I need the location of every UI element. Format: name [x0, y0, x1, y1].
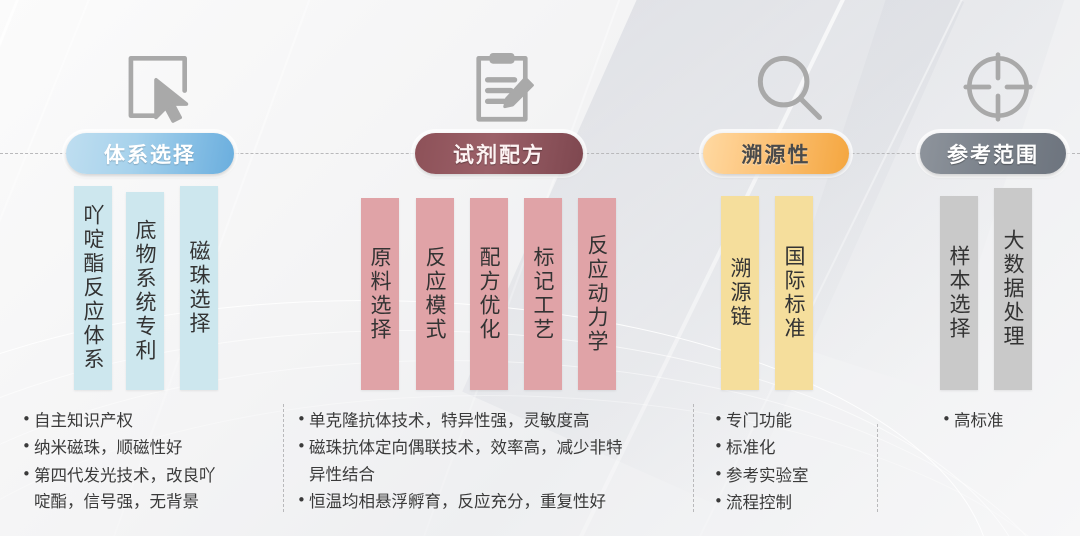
factor-bar-label: 吖啶酯反应体系: [78, 204, 108, 372]
factor-bar-label: 原料选择: [365, 246, 395, 342]
bullet-list-reference-range: 高标准: [942, 408, 1072, 435]
slide-canvas: 体系选择 试剂配方 溯源性 参考范围 吖啶酯反应体系 底物系统专利 磁珠选择 原…: [0, 0, 1080, 536]
pill-label: 试剂配方: [453, 139, 545, 169]
factor-bar[interactable]: 样本选择: [940, 196, 978, 390]
group-pill-system-selection[interactable]: 体系选择: [66, 133, 234, 174]
factor-bar[interactable]: 溯源链: [721, 196, 759, 390]
magnifier-icon: [746, 44, 832, 130]
factor-bar[interactable]: 底物系统专利: [126, 192, 164, 390]
factor-bar-label: 标记工艺: [528, 246, 558, 342]
factor-bar[interactable]: 磁珠选择: [180, 186, 218, 390]
factor-bar-label: 反应动力学: [582, 234, 612, 354]
factor-bar[interactable]: 标记工艺: [524, 198, 562, 390]
list-item: 标准化: [714, 435, 874, 461]
list-item: 单克隆抗体技术，特异性强，灵敏度高: [297, 408, 687, 434]
icon-row: [0, 0, 1080, 132]
bullet-list-reagent-formula: 单克隆抗体技术，特异性强，灵敏度高 磁珠抗体定向偶联技术，效率高，减少非特 异性…: [297, 408, 687, 517]
clipboard-pencil-icon: [459, 44, 545, 130]
factor-bar-label: 底物系统专利: [130, 219, 160, 363]
list-item: 磁珠抗体定向偶联技术，效率高，减少非特 异性结合: [297, 435, 687, 488]
factor-bar[interactable]: 反应动力学: [578, 198, 616, 390]
bullet-list-traceability: 专门功能 标准化 参考实验室 流程控制: [714, 408, 874, 518]
factor-bar-label: 样本选择: [944, 245, 974, 341]
group-pill-traceability[interactable]: 溯源性: [703, 133, 849, 174]
crosshair-target-icon: [955, 44, 1041, 130]
list-item: 流程控制: [714, 490, 874, 516]
column-divider: [693, 404, 694, 512]
column-divider: [283, 404, 284, 512]
pill-label: 溯源性: [742, 139, 811, 169]
factor-bar-label: 配方优化: [474, 246, 504, 342]
list-item: 恒温均相悬浮孵育，反应充分，重复性好: [297, 489, 687, 515]
column-divider: [877, 424, 878, 512]
group-pill-reagent-formula[interactable]: 试剂配方: [415, 133, 583, 174]
list-item: 专门功能: [714, 408, 874, 434]
factor-bar[interactable]: 吖啶酯反应体系: [74, 186, 112, 390]
factor-bar[interactable]: 配方优化: [470, 198, 508, 390]
pill-label: 参考范围: [947, 139, 1039, 169]
factor-bar-label: 大数据处理: [998, 229, 1028, 349]
list-item: 自主知识产权: [22, 408, 270, 434]
factor-bar-label: 国际标准: [779, 245, 809, 341]
factor-bar[interactable]: 大数据处理: [994, 188, 1032, 390]
bullet-list-system-selection: 自主知识产权 纳米磁珠，顺磁性好 第四代发光技术，改良吖 啶酯，信号强，无背景: [22, 408, 270, 517]
factor-bar[interactable]: 反应模式: [416, 198, 454, 390]
cursor-select-icon: [113, 44, 199, 130]
factor-bar-label: 反应模式: [420, 246, 450, 342]
pill-label: 体系选择: [104, 139, 196, 169]
factor-bar[interactable]: 国际标准: [775, 196, 813, 390]
list-item: 参考实验室: [714, 463, 874, 489]
group-pill-reference-range[interactable]: 参考范围: [920, 133, 1066, 174]
factor-bar-label: 磁珠选择: [184, 240, 214, 336]
list-item: 第四代发光技术，改良吖 啶酯，信号强，无背景: [22, 463, 270, 516]
factor-bar[interactable]: 原料选择: [361, 198, 399, 390]
list-item: 纳米磁珠，顺磁性好: [22, 435, 270, 461]
list-item: 高标准: [942, 408, 1072, 434]
factor-bar-label: 溯源链: [725, 257, 755, 329]
